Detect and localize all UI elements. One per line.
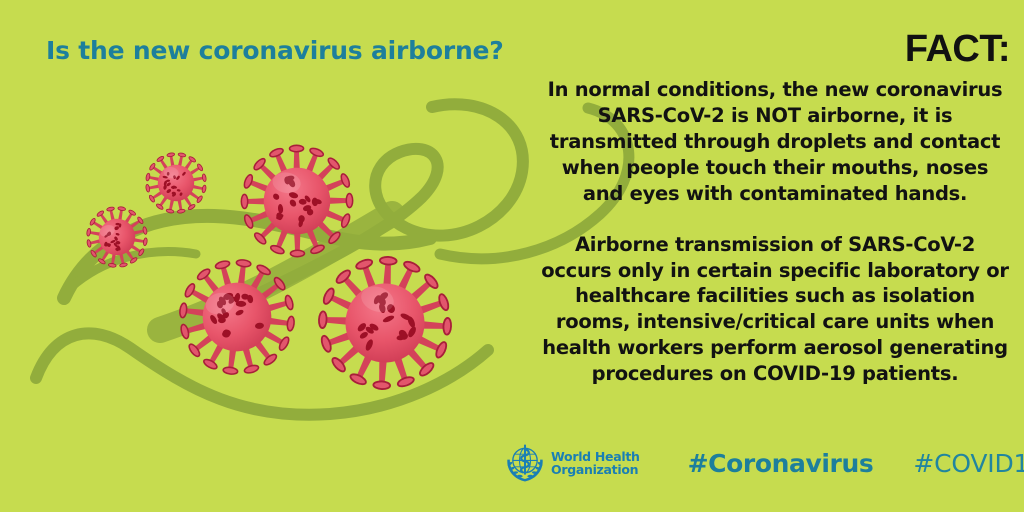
fact-text-column: FACT: In normal conditions, the new coro… [540, 30, 1010, 387]
page-title: Is the new coronavirus airborne? [46, 36, 504, 65]
fact-heading: FACT: [540, 30, 1010, 68]
who-logo: World Health Organization [504, 442, 640, 484]
fact-paragraph-transmission: In normal conditions, the new coronaviru… [540, 77, 1010, 207]
fact-paragraph-airborne-exception: Airborne transmission of SARS-CoV-2 occu… [540, 232, 1010, 388]
footer-bar: World Health Organization #Coronavirus #… [504, 440, 1012, 486]
who-wordmark-line-1: World Health [551, 450, 640, 464]
virus-body [154, 161, 197, 204]
who-wordmark: World Health Organization [551, 450, 640, 477]
who-emblem-icon [504, 442, 546, 484]
virus-body [94, 214, 141, 261]
hashtag-coronavirus[interactable]: #Coronavirus [688, 449, 874, 478]
virus-small-top [134, 141, 217, 224]
who-fact-poster: Is the new coronavirus airborne? FACT: I… [0, 0, 1024, 512]
who-wordmark-line-2: Organization [551, 463, 640, 477]
hashtag-covid19[interactable]: #COVID19 [913, 449, 1024, 478]
virus-body [195, 275, 278, 358]
